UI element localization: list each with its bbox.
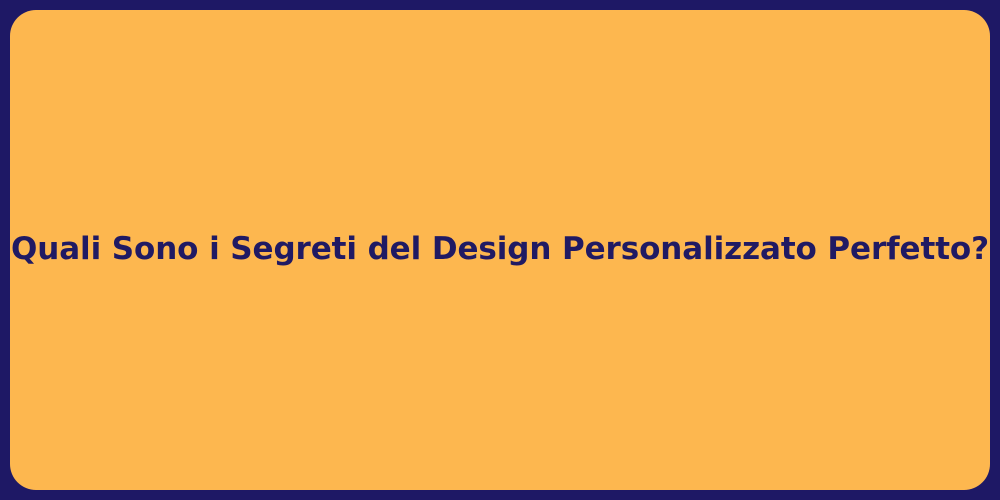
page-title: Quali Sono i Segreti del Design Personal… <box>0 229 1000 271</box>
card-panel: Quali Sono i Segreti del Design Personal… <box>10 10 990 490</box>
card-frame: Quali Sono i Segreti del Design Personal… <box>0 0 1000 500</box>
